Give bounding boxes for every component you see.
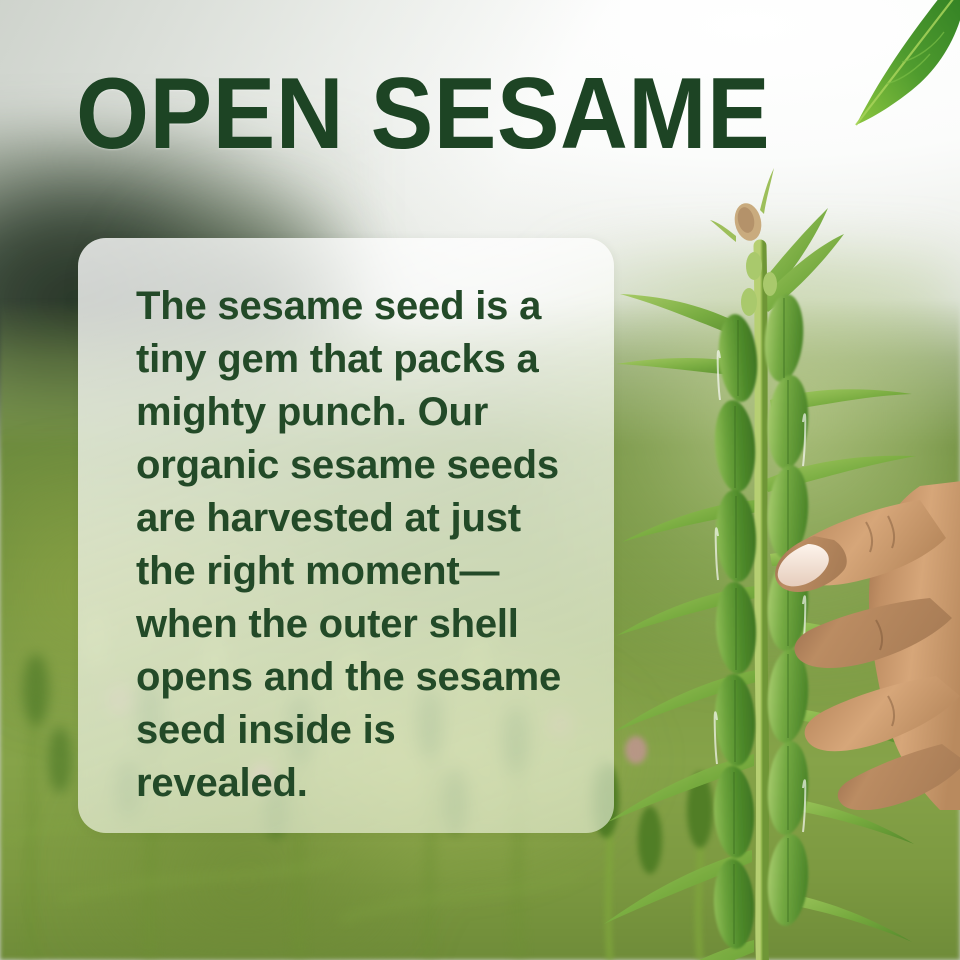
hand-holding-stem bbox=[770, 480, 960, 810]
text-card: The sesame seed is a tiny gem that packs… bbox=[78, 238, 614, 833]
card-body-text: The sesame seed is a tiny gem that packs… bbox=[136, 280, 576, 810]
corner-leaf-icon bbox=[826, 0, 960, 134]
page-title: OPEN SESAME bbox=[76, 64, 770, 165]
poster-canvas: OPEN SESAME The sesame seed is a tiny ge… bbox=[0, 0, 960, 960]
